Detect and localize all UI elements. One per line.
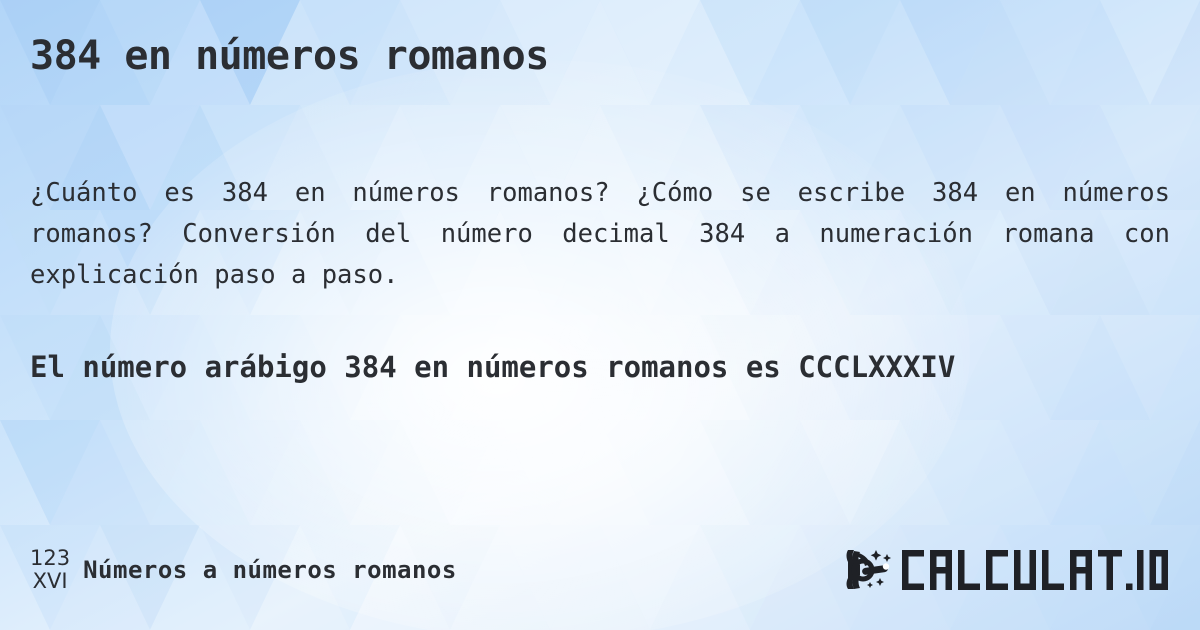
logo-denominator: XVI [33, 571, 68, 592]
calculatio-brand[interactable] [842, 544, 1170, 596]
logo-numerator: 123 [30, 548, 70, 569]
page-title: 384 en números romanos [30, 34, 549, 78]
content-area: 384 en números romanos ¿Cuánto es 384 en… [0, 0, 1200, 630]
site-brand-left-label: Números a números romanos [83, 556, 457, 584]
intro-paragraph: ¿Cuánto es 384 en números romanos? ¿Cómo… [30, 173, 1170, 296]
numbers-to-roman-logo-icon: 123 XVI [30, 548, 70, 592]
calculatio-wordmark [900, 548, 1170, 592]
answer-statement: El número arábigo 384 en números romanos… [30, 345, 1170, 389]
footer: 123 XVI Números a números romanos [30, 542, 1170, 598]
share-card: 384 en números romanos ¿Cuánto es 384 en… [0, 0, 1200, 630]
magic-wand-hand-icon [842, 544, 898, 596]
site-brand-left[interactable]: 123 XVI Números a números romanos [30, 548, 457, 592]
